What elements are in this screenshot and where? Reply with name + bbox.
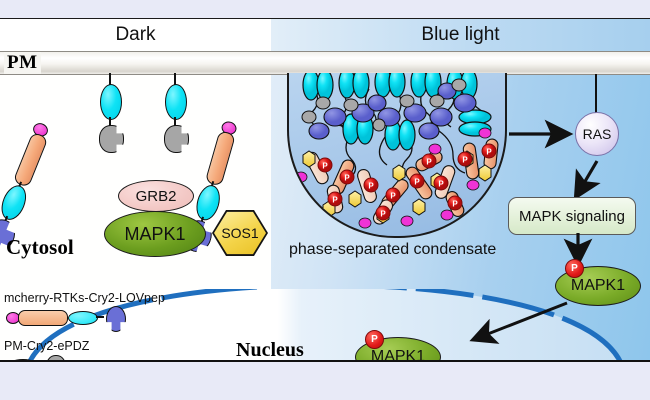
linker-icon <box>174 117 176 126</box>
header-label-dark: Dark <box>0 24 271 46</box>
svg-text:P: P <box>344 174 350 183</box>
legend: mcherry-RTKs-Cry2-LOVpep PM-Cry2-ePDZ <box>4 291 165 362</box>
ras-membrane-anchor-icon <box>595 74 597 113</box>
phospho-mapk1-nucleus: P MAPK1 <box>355 337 441 362</box>
rtk-rod-icon <box>18 310 68 326</box>
cytosol-label: Cytosol <box>6 235 74 260</box>
plasma-membrane-label: PM <box>4 52 41 74</box>
rtk-construct-icon <box>4 307 165 329</box>
nucleus-label: Nucleus <box>236 339 304 362</box>
legend-label-0: mcherry-RTKs-Cry2-LOVpep <box>4 291 165 305</box>
header-label-blue-light: Blue light <box>271 24 650 46</box>
legend-label-1: PM-Cry2-ePDZ <box>4 339 165 353</box>
condensate-label: phase-separated condensate <box>289 241 496 259</box>
svg-text:P: P <box>390 192 396 201</box>
phospho-group-icon: P <box>365 330 384 349</box>
linker-icon <box>96 316 104 318</box>
svg-text:P: P <box>438 180 444 189</box>
mapk-signaling-box: MAPK signaling <box>508 197 636 235</box>
linker-icon <box>109 117 111 126</box>
svg-text:P: P <box>414 178 420 187</box>
svg-text:P: P <box>380 210 386 219</box>
svg-text:P: P <box>426 158 432 167</box>
svg-text:P: P <box>368 182 374 191</box>
grb2-molecule: GRB2 <box>118 180 194 212</box>
pm-cry2-epdz-icon <box>4 355 165 362</box>
svg-text:P: P <box>332 196 338 205</box>
arrow-ras-to-mapk-signaling <box>577 161 597 195</box>
cry2-icon <box>165 84 187 120</box>
mapk1-molecule-cytosol: MAPK1 <box>104 211 206 257</box>
arrow-mapk1-to-nucleus <box>455 301 575 361</box>
epdz-icon <box>46 355 66 362</box>
cry2-icon <box>68 311 98 325</box>
signaling-arrows <box>505 119 650 204</box>
plasma-membrane-bar <box>0 51 650 75</box>
cry2-icon <box>100 84 122 120</box>
figure-canvas: Dark Blue light PM GRB2 MAPK1 SOS <box>0 18 650 362</box>
lovpep-icon <box>106 306 126 332</box>
svg-text:P: P <box>462 156 468 165</box>
phospho-group-icon: P <box>565 259 584 278</box>
svg-text:P: P <box>452 200 458 209</box>
svg-text:P: P <box>322 162 328 171</box>
svg-text:P: P <box>486 148 492 157</box>
cry2-icon <box>6 359 40 362</box>
phospho-mapk1-cytosol: P MAPK1 <box>555 266 641 306</box>
